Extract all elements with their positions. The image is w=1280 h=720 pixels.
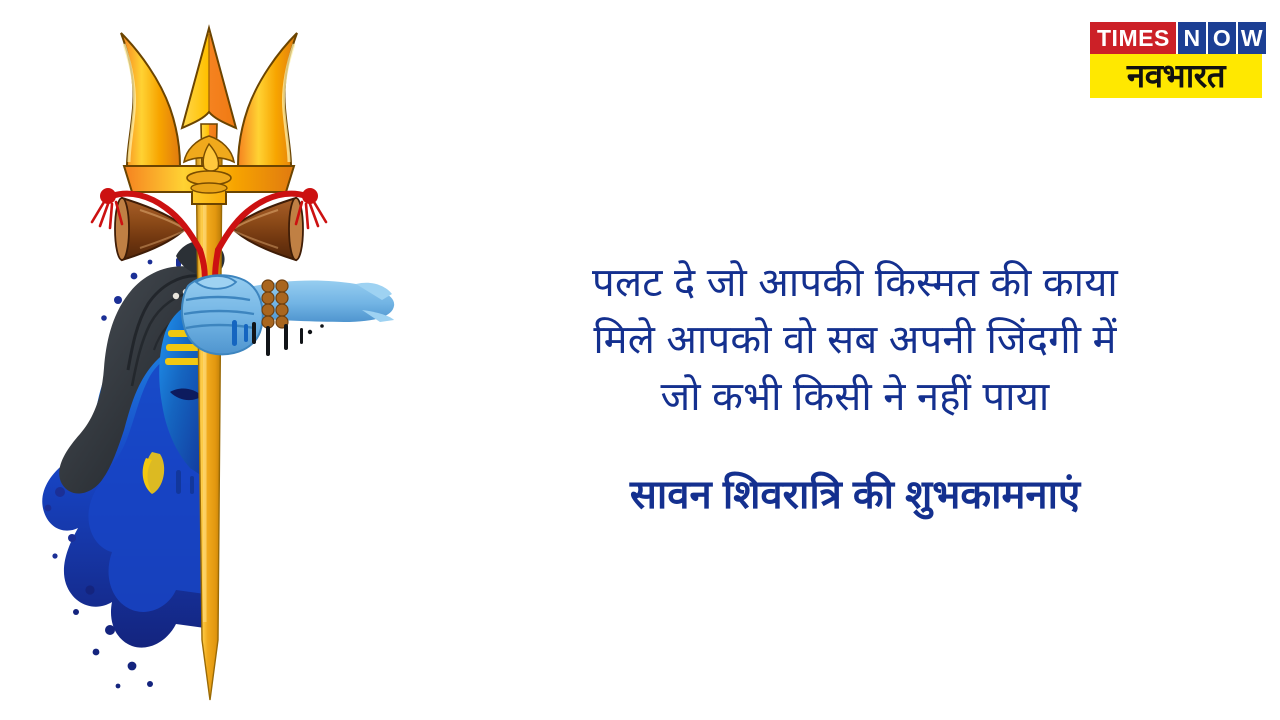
trishul-head <box>121 28 297 204</box>
wish-line: सावन शिवरात्रि की शुभकामनाएं <box>440 469 1270 521</box>
logo-now-letter-w: W <box>1238 22 1266 54</box>
verse-line-1: पलट दे जो आपकी किस्मत की काया <box>440 255 1270 312</box>
shiva-trishul-artwork <box>0 0 430 720</box>
logo-now-letter-o: O <box>1208 22 1236 54</box>
logo-top-row: TIMES N O W <box>1090 22 1262 54</box>
greeting-text-block: पलट दे जो आपकी किस्मत की काया मिले आपको … <box>440 255 1270 521</box>
logo-navbharat-label: नवभारत <box>1090 54 1262 98</box>
greeting-card-canvas: पलट दे जो आपकी किस्मत की काया मिले आपको … <box>0 0 1280 720</box>
shiva-fist <box>182 275 263 354</box>
verse-line-2: मिले आपको वो सब अपनी जिंदगी में <box>440 312 1270 369</box>
times-now-navbharat-logo: TIMES N O W नवभारत <box>1090 22 1262 98</box>
logo-now-letter-n: N <box>1178 22 1206 54</box>
verse-line-3: जो कभी किसी ने नहीं पाया <box>440 369 1270 426</box>
logo-times-label: TIMES <box>1090 22 1176 54</box>
paint-drips <box>252 322 324 356</box>
